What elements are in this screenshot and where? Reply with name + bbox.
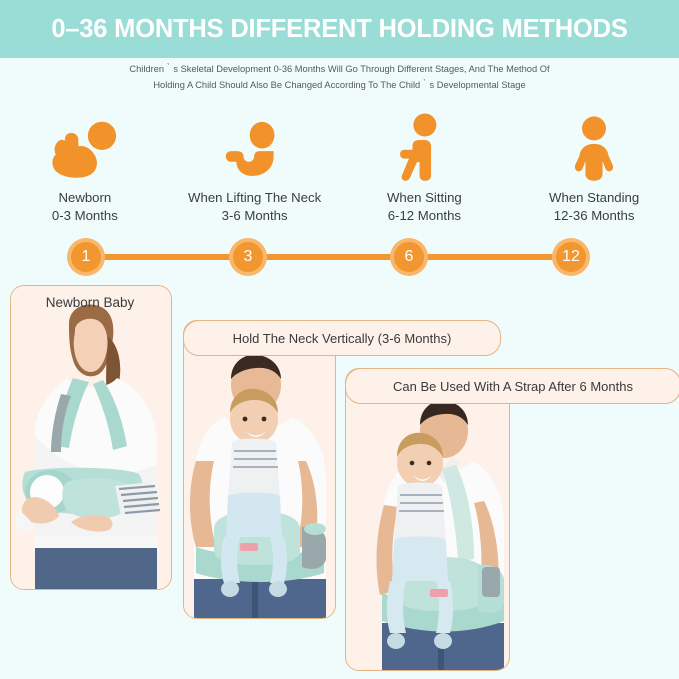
- stage-title: When Sitting: [387, 189, 462, 207]
- timeline-marker-6[interactable]: 6: [390, 238, 428, 276]
- timeline-track: [86, 254, 575, 260]
- stage-months: 0-3 Months: [52, 207, 118, 225]
- panel-caption-hold-neck: Hold The Neck Vertically (3-6 Months): [183, 320, 501, 356]
- stage-months: 6-12 Months: [387, 207, 462, 225]
- stage-standing: When Standing 12-36 Months: [509, 112, 679, 224]
- header-band: 0–36 MONTHS DIFFERENT HOLDING METHODS: [0, 0, 679, 58]
- timeline-marker-label: 6: [394, 242, 424, 272]
- stage-label-sitting: When Sitting 6-12 Months: [387, 189, 462, 224]
- timeline-marker-3[interactable]: 3: [229, 238, 267, 276]
- subtitle-block: Children｀s Skeletal Development 0-36 Mon…: [0, 62, 679, 93]
- baby-lying-icon: [42, 112, 128, 183]
- timeline-marker-1[interactable]: 1: [67, 238, 105, 276]
- stage-months: 12-36 Months: [549, 207, 639, 225]
- stage-months: 3-6 Months: [188, 207, 321, 225]
- panel-caption-newborn: Newborn Baby: [10, 295, 170, 310]
- stage-label-lifting-neck: When Lifting The Neck 3-6 Months: [188, 189, 321, 224]
- father-carrying-baby-with-hip-seat-strap-photo: [346, 369, 509, 670]
- photo-panel-strap-after-6-months: [345, 368, 510, 671]
- baby-lifting-neck-icon: [215, 112, 295, 183]
- panel-caption-strap-after-6-months: Can Be Used With A Strap After 6 Months: [345, 368, 679, 404]
- stage-lifting-neck: When Lifting The Neck 3-6 Months: [170, 112, 340, 224]
- photo-panel-hold-neck: [183, 320, 336, 619]
- timeline-marker-label: 3: [233, 242, 263, 272]
- page-title: 0–36 MONTHS DIFFERENT HOLDING METHODS: [51, 15, 627, 44]
- subtitle-line-2: Holding A Child Should Also Be Changed A…: [0, 78, 679, 94]
- stage-title: When Standing: [549, 189, 639, 207]
- stage-newborn: Newborn 0-3 Months: [0, 112, 170, 224]
- stages-row: Newborn 0-3 Months When Lifting The Neck…: [0, 112, 679, 224]
- timeline: 1 3 6 12: [0, 238, 679, 276]
- stage-title: When Lifting The Neck: [188, 189, 321, 207]
- infographic-page: 0–36 MONTHS DIFFERENT HOLDING METHODS Ch…: [0, 0, 679, 679]
- stage-sitting: When Sitting 6-12 Months: [340, 112, 510, 224]
- stage-title: Newborn: [52, 189, 118, 207]
- mother-holding-newborn-in-carrier-photo: [11, 286, 171, 589]
- stage-label-newborn: Newborn 0-3 Months: [52, 189, 118, 224]
- baby-sitting-icon: [393, 112, 455, 183]
- father-holding-baby-upright-in-carrier-photo: [184, 321, 335, 618]
- photo-panel-newborn: [10, 285, 172, 590]
- stage-label-standing: When Standing 12-36 Months: [549, 189, 639, 224]
- timeline-marker-label: 12: [556, 242, 586, 272]
- timeline-marker-12[interactable]: 12: [552, 238, 590, 276]
- subtitle-line-1: Children｀s Skeletal Development 0-36 Mon…: [0, 62, 679, 78]
- timeline-marker-label: 1: [71, 242, 101, 272]
- baby-standing-icon: [564, 112, 624, 183]
